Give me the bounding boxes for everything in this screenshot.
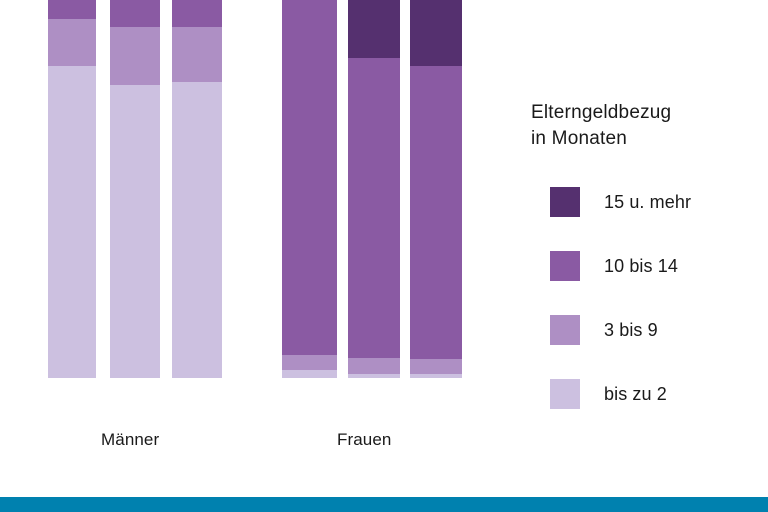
- legend-swatch-15-u-mehr: [550, 187, 580, 217]
- legend-label-3-bis-9: 3 bis 9: [604, 320, 658, 341]
- bar-segment[interactable]: [48, 19, 96, 66]
- plot-area: Männer Frauen: [0, 0, 500, 470]
- legend-label-10-bis-14: 10 bis 14: [604, 256, 678, 277]
- bar-segment[interactable]: [410, 359, 462, 375]
- bar-segment[interactable]: [48, 66, 96, 378]
- bar-maenner-1[interactable]: [48, 0, 96, 378]
- bar-segment[interactable]: [282, 370, 337, 378]
- bar-segment[interactable]: [172, 0, 222, 27]
- chart-figure: Männer Frauen Elterngeldbezug in Monaten…: [0, 0, 768, 512]
- bar-segment[interactable]: [410, 0, 462, 66]
- bar-segment[interactable]: [282, 0, 337, 355]
- bar-frauen-1[interactable]: [282, 0, 337, 378]
- bar-segment[interactable]: [348, 358, 400, 374]
- footer-accent-bar: [0, 497, 768, 512]
- bar-maenner-3[interactable]: [172, 0, 222, 378]
- bar-segment[interactable]: [110, 27, 160, 86]
- bar-group-frauen: [282, 0, 462, 378]
- legend-item-15-u-mehr[interactable]: 15 u. mehr: [531, 184, 761, 220]
- bar-maenner-2[interactable]: [110, 0, 160, 378]
- legend-item-bis-zu-2[interactable]: bis zu 2: [531, 376, 761, 412]
- bar-segment[interactable]: [172, 27, 222, 82]
- bar-segment[interactable]: [172, 82, 222, 378]
- bar-group-maenner: [48, 0, 222, 378]
- legend-item-3-bis-9[interactable]: 3 bis 9: [531, 312, 761, 348]
- legend-label-15-u-mehr: 15 u. mehr: [604, 192, 691, 213]
- legend-swatch-3-bis-9: [550, 315, 580, 345]
- bar-segment[interactable]: [48, 0, 96, 19]
- bar-frauen-2[interactable]: [348, 0, 400, 378]
- bar-segment[interactable]: [348, 374, 400, 378]
- bar-segment[interactable]: [110, 0, 160, 27]
- legend-swatch-10-bis-14: [550, 251, 580, 281]
- bar-segment[interactable]: [410, 66, 462, 359]
- bar-frauen-3[interactable]: [410, 0, 462, 378]
- bar-segment[interactable]: [110, 85, 160, 378]
- legend-swatch-bis-zu-2: [550, 379, 580, 409]
- legend-item-10-bis-14[interactable]: 10 bis 14: [531, 248, 761, 284]
- bar-segment[interactable]: [348, 0, 400, 58]
- legend-title: Elterngeldbezug in Monaten: [531, 100, 761, 152]
- category-label-frauen: Frauen: [337, 430, 391, 450]
- legend-label-bis-zu-2: bis zu 2: [604, 384, 667, 405]
- legend: Elterngeldbezug in Monaten 15 u. mehr 10…: [531, 100, 761, 412]
- bar-segment[interactable]: [348, 58, 400, 358]
- bar-segment[interactable]: [410, 374, 462, 378]
- category-label-maenner: Männer: [101, 430, 159, 450]
- bar-segment[interactable]: [282, 355, 337, 371]
